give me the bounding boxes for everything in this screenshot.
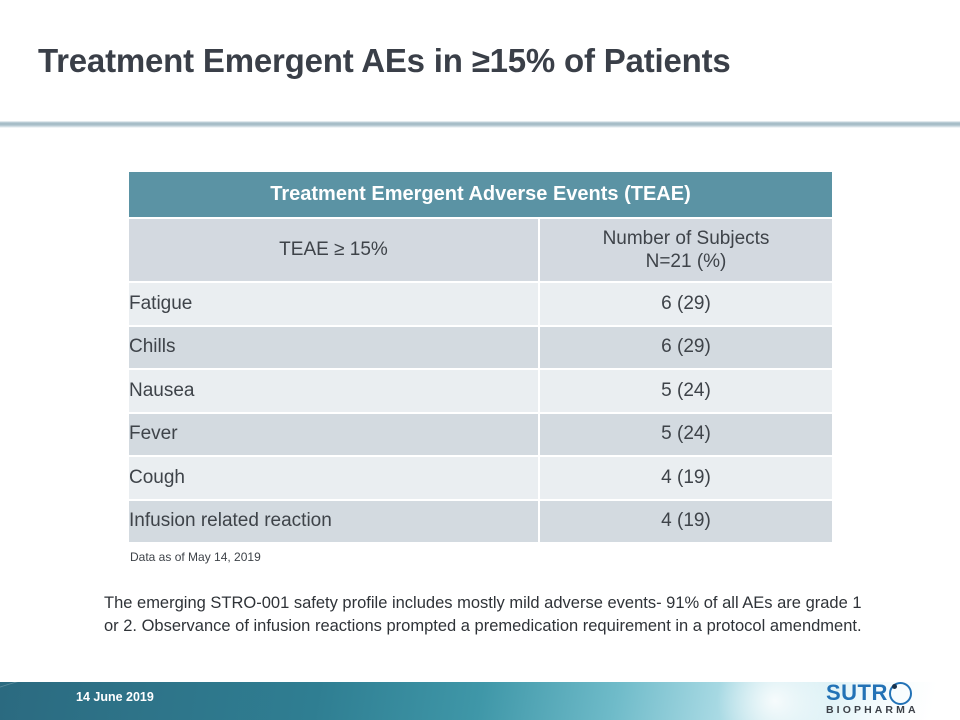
column-header-subjects: Number of Subjects N=21 (%) xyxy=(539,218,832,282)
page-title: Treatment Emergent AEs in ≥15% of Patien… xyxy=(38,42,918,80)
row-label: Fatigue xyxy=(129,282,539,326)
table-caption: Treatment Emergent Adverse Events (TEAE) xyxy=(129,172,832,218)
teae-table: Treatment Emergent Adverse Events (TEAE)… xyxy=(129,172,832,544)
row-value: 5 (24) xyxy=(539,369,832,413)
title-divider xyxy=(0,121,960,128)
table-row: Cough 4 (19) xyxy=(129,456,832,500)
column-header-subjects-line1: Number of Subjects xyxy=(540,227,832,250)
table-footnote: Data as of May 14, 2019 xyxy=(130,550,261,564)
row-label: Fever xyxy=(129,413,539,457)
table-header-row: TEAE ≥ 15% Number of Subjects N=21 (%) xyxy=(129,218,832,282)
table-row: Chills 6 (29) xyxy=(129,326,832,370)
row-label: Nausea xyxy=(129,369,539,413)
row-value: 4 (19) xyxy=(539,456,832,500)
table-row: Nausea 5 (24) xyxy=(129,369,832,413)
row-label: Infusion related reaction xyxy=(129,500,539,544)
logo-orbit-dot-icon xyxy=(892,684,897,689)
row-value: 6 (29) xyxy=(539,326,832,370)
row-value: 4 (19) xyxy=(539,500,832,544)
row-label: Cough xyxy=(129,456,539,500)
table-row: Fatigue 6 (29) xyxy=(129,282,832,326)
logo-orbit-icon xyxy=(889,682,912,705)
footer-date: 14 June 2019 xyxy=(76,690,154,704)
row-value: 6 (29) xyxy=(539,282,832,326)
row-label: Chills xyxy=(129,326,539,370)
table-row: Infusion related reaction 4 (19) xyxy=(129,500,832,544)
row-value: 5 (24) xyxy=(539,413,832,457)
table-row: Fever 5 (24) xyxy=(129,413,832,457)
logo-wordmark: SUTR xyxy=(826,683,946,703)
logo-wordmark-text: SUTR xyxy=(826,682,888,704)
logo-subtitle: BIOPHARMA xyxy=(826,705,946,716)
body-paragraph: The emerging STRO-001 safety profile inc… xyxy=(104,592,876,639)
table-caption-row: Treatment Emergent Adverse Events (TEAE) xyxy=(129,172,832,218)
sutro-biopharma-logo: SUTR BIOPHARMA xyxy=(826,683,946,715)
column-header-teae: TEAE ≥ 15% xyxy=(129,218,539,282)
column-header-subjects-line2: N=21 (%) xyxy=(540,250,832,273)
